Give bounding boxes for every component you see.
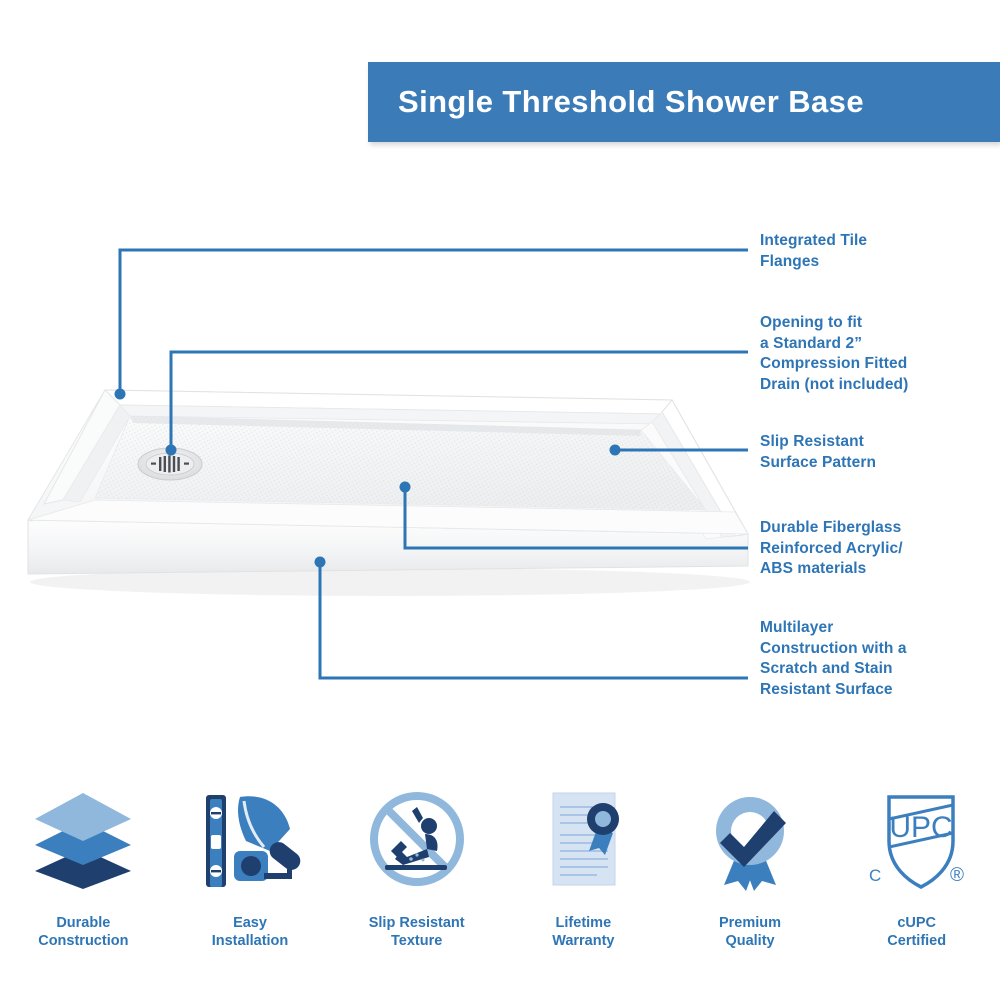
feature-label: Easy Installation <box>212 914 289 950</box>
check-rosette-icon <box>694 782 806 900</box>
feature-label: Slip Resistant Texture <box>369 914 465 950</box>
callout-drain-opening: Opening to fit a Standard 2” Compression… <box>760 313 908 395</box>
feature-easy-installation: Easy Installation <box>167 782 334 982</box>
upc-shield-icon: UPC C ® <box>861 782 973 900</box>
callout-integrated-tile-flanges: Integrated Tile Flanges <box>760 231 867 272</box>
feature-slip-resistant: Slip Resistant Texture <box>333 782 500 982</box>
feature-label: Lifetime Warranty <box>552 914 614 950</box>
level-trowel-icon <box>194 782 306 900</box>
no-slip-icon <box>361 782 473 900</box>
callout-durable-fiberglass-materials: Durable Fiberglass Reinforced Acrylic/ A… <box>760 518 903 580</box>
shower-base-body <box>28 390 748 574</box>
feature-durable-construction: Durable Construction <box>0 782 167 982</box>
layers-icon <box>27 782 139 900</box>
leader-dot-drain-opening <box>166 445 177 456</box>
callout-slip-resistant-surface-pattern: Slip Resistant Surface Pattern <box>760 432 876 473</box>
feature-cupc-certified: UPC C ® cUPC Certified <box>833 782 1000 982</box>
leader-dot-multilayer-construction <box>315 557 326 568</box>
feature-premium-quality: Premium Quality <box>667 782 834 982</box>
feature-label: Premium Quality <box>719 914 781 950</box>
shield-letters: UPC <box>889 811 952 844</box>
infographic-page: Single Threshold Shower Base <box>0 0 1000 1000</box>
feature-label: cUPC Certified <box>887 914 946 950</box>
feature-strip: Durable Construction <box>0 782 1000 982</box>
leader-dot-integrated-tile-flanges <box>115 389 126 400</box>
feature-label: Durable Construction <box>38 914 128 950</box>
leader-dot-durable-fiberglass-materials <box>400 482 411 493</box>
shield-prefix: C <box>869 866 881 885</box>
leader-dot-slip-resistant-surface-pattern <box>610 445 621 456</box>
callout-multilayer-construction: Multilayer Construction with a Scratch a… <box>760 618 907 700</box>
leader-line-integrated-tile-flanges <box>120 250 748 394</box>
registered-mark: ® <box>950 865 964 886</box>
feature-lifetime-warranty: Lifetime Warranty <box>500 782 667 982</box>
certificate-icon <box>527 782 639 900</box>
